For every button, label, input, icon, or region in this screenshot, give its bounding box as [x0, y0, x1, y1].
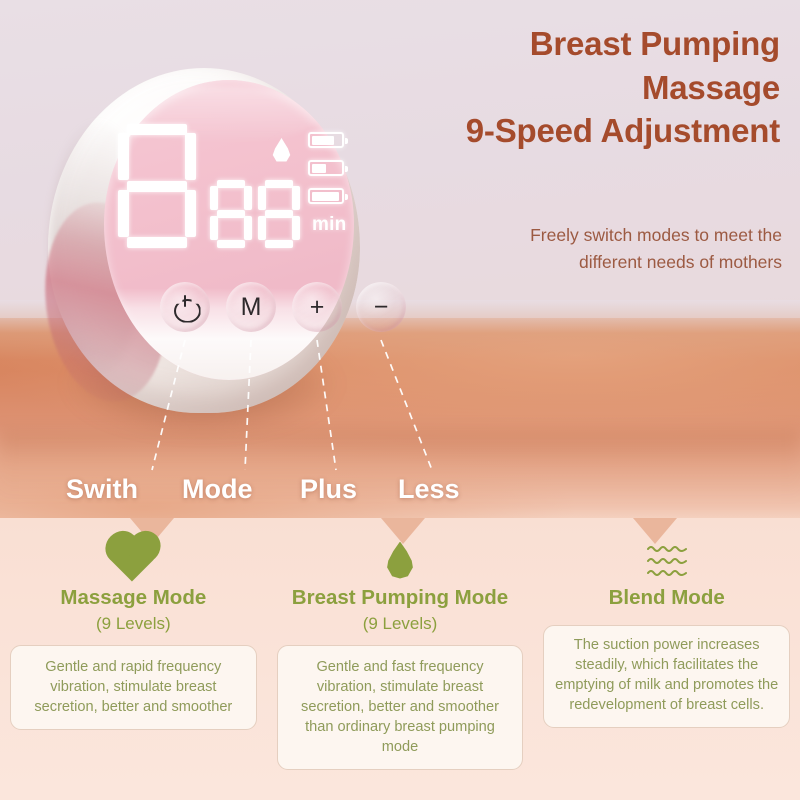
headline-block: Breast Pumping Massage 9-Speed Adjustmen…: [392, 22, 780, 153]
breast-pump-device: min M + −: [38, 62, 374, 430]
battery-level-3-icon: [308, 188, 344, 204]
headline-line-2: Massage: [392, 66, 780, 110]
power-icon: [174, 296, 197, 319]
mode-levels-breast-pumping: (9 Levels): [363, 614, 438, 634]
headline-line-1: Breast Pumping: [392, 22, 780, 66]
mode-title-breast-pumping: Breast Pumping Mode: [292, 586, 508, 611]
heart-icon: [116, 540, 150, 580]
battery-level-1-icon: [308, 132, 344, 148]
mode-column-massage: Massage Mode (9 Levels) Gentle and rapid…: [0, 540, 267, 800]
milk-drop-icon: [272, 138, 291, 163]
mode-button[interactable]: M: [226, 282, 276, 332]
headline-line-3: 9-Speed Adjustment: [392, 109, 780, 153]
power-button[interactable]: [160, 282, 210, 332]
mode-columns: Massage Mode (9 Levels) Gentle and rapid…: [0, 540, 800, 800]
droplet-icon: [386, 540, 414, 580]
led-big-digit: [118, 124, 196, 248]
mode-column-breast-pumping: Breast Pumping Mode (9 Levels) Gentle an…: [267, 540, 534, 800]
minus-icon: −: [374, 293, 389, 322]
callout-label-plus: Plus: [300, 474, 357, 505]
plus-icon: +: [310, 293, 325, 322]
mode-description-breast-pumping: Gentle and fast frequency vibration, sti…: [277, 645, 524, 771]
subheadline-text: Freely switch modes to meet the differen…: [470, 222, 782, 276]
minus-button[interactable]: −: [356, 282, 406, 332]
led-small-digit-1: [210, 180, 252, 248]
led-display: min: [118, 124, 358, 256]
mode-column-blend: Blend Mode The suction power increases s…: [533, 540, 800, 800]
promo-image-stage: min M + − Swith Mode Plus Less: [0, 0, 800, 800]
mode-description-massage: Gentle and rapid frequency vibration, st…: [10, 645, 257, 730]
waves-icon: [647, 540, 687, 580]
callout-label-switch: Swith: [66, 474, 138, 505]
led-small-digit-2: [258, 180, 300, 248]
mode-title-blend: Blend Mode: [609, 586, 725, 611]
led-unit-label: min: [312, 214, 346, 236]
callout-label-mode: Mode: [182, 474, 253, 505]
wave-line-2: [647, 557, 687, 564]
mode-letter-icon: M: [241, 293, 262, 322]
wave-line-3: [647, 569, 687, 576]
callout-label-less: Less: [398, 474, 460, 505]
wave-line-1: [647, 545, 687, 552]
mode-title-massage: Massage Mode: [60, 586, 206, 611]
mode-description-blend: The suction power increases steadily, wh…: [543, 625, 790, 729]
plus-button[interactable]: +: [292, 282, 342, 332]
device-button-row: M + −: [160, 282, 390, 338]
mode-levels-massage: (9 Levels): [96, 614, 171, 634]
battery-level-2-icon: [308, 160, 344, 176]
